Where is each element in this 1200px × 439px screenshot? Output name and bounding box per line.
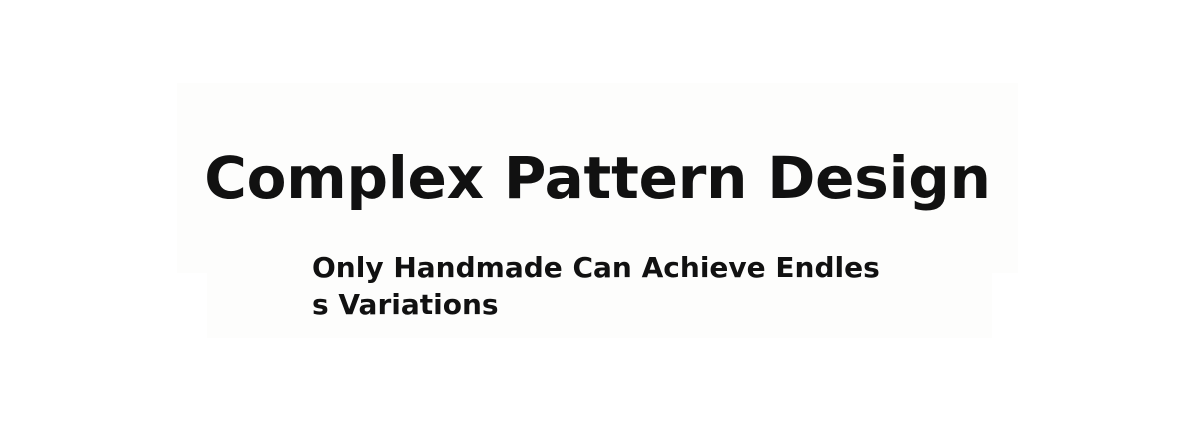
slide-title: Complex Pattern Design xyxy=(204,148,990,209)
slide-canvas: Complex Pattern Design Only Handmade Can… xyxy=(0,0,1200,439)
slide-subtitle: Only Handmade Can Achieve Endless Variat… xyxy=(312,249,890,323)
title-block: Complex Pattern Design xyxy=(177,83,1018,273)
subtitle-block: Only Handmade Can Achieve Endless Variat… xyxy=(312,249,890,323)
